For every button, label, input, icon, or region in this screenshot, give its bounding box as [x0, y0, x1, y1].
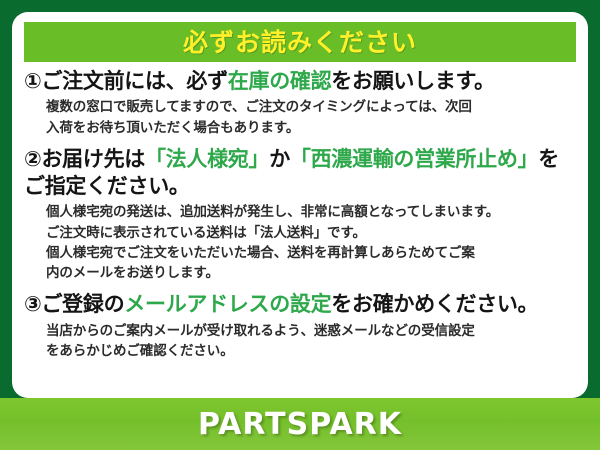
notice-item-heading: ③ご登録のメールアドレスの設定をお確かめください。 — [24, 291, 578, 318]
notice-plain-text: お届け先は — [41, 147, 145, 171]
notice-item-heading: ②お届け先は「法人様宛」か「西濃運輸の営業所止め」をご指定ください。 — [24, 146, 578, 201]
notice-plain-text: をお確かめください。 — [331, 292, 538, 316]
notice-item-body: 当店からのご案内メールが受け取れるよう、迷惑メールなどの受信設定をあらかじめご確… — [46, 321, 578, 362]
notice-item: ②お届け先は「法人様宛」か「西濃運輸の営業所止め」をご指定ください。個人様宅宛の… — [24, 146, 578, 284]
header-banner: 必ずお読みください — [24, 22, 576, 62]
notice-panel: 必ずお読みください ①ご注文前には、必ず在庫の確認をお願いします。複数の窓口で販… — [12, 12, 588, 398]
notice-body-line: 複数の窓口で販売してますので、ご注文のタイミングによっては、次回 — [46, 97, 578, 117]
notice-item-body: 個人様宅宛の発送は、追加送料が発生し、非常に高額となってしまいます。ご注文時に表… — [46, 202, 578, 283]
notice-item-body: 複数の窓口で販売してますので、ご注文のタイミングによっては、次回入荷をお待ち頂い… — [46, 97, 578, 138]
notice-item: ①ご注文前には、必ず在庫の確認をお願いします。複数の窓口で販売してますので、ご注… — [24, 68, 578, 138]
page-title: 必ずお読みください — [183, 30, 417, 55]
notice-plain-text: か — [269, 147, 290, 171]
notice-body-line: をあらかじめご確認ください。 — [46, 341, 578, 361]
notice-item-marker: ② — [24, 147, 41, 171]
notice-body-line: 入荷をお待ち頂いただく場合もあります。 — [46, 118, 578, 138]
notice-body-line: 個人様宅宛でご注文をいただいた場合、送料を再計算しあらためてご案 — [46, 243, 578, 263]
notice-plain-text: ご登録の — [41, 292, 124, 316]
notice-item-marker: ③ — [24, 292, 41, 316]
notice-body-line: ご注文時に表示されている送料は「法人送料」です。 — [46, 223, 578, 243]
notice-item-heading: ①ご注文前には、必ず在庫の確認をお願いします。 — [24, 68, 578, 95]
notice-plain-text: をお願いします。 — [331, 69, 495, 93]
notice-card: 必ずお読みください ①ご注文前には、必ず在庫の確認をお願いします。複数の窓口で販… — [0, 0, 600, 450]
notice-body-line: 当店からのご案内メールが受け取れるよう、迷惑メールなどの受信設定 — [46, 321, 578, 341]
brand-logo-text: PARTSPARK — [198, 407, 402, 442]
notice-item-list: ①ご注文前には、必ず在庫の確認をお願いします。複数の窓口で販売してますので、ご注… — [12, 68, 588, 369]
notice-highlight-text: 在庫の確認 — [228, 69, 332, 93]
notice-highlight-text: 「法人様宛」 — [145, 147, 269, 171]
notice-highlight-text: メールアドレスの設定 — [124, 292, 331, 316]
notice-item-marker: ① — [24, 69, 41, 93]
notice-item: ③ご登録のメールアドレスの設定をお確かめください。当店からのご案内メールが受け取… — [24, 291, 578, 361]
notice-plain-text: ご注文前には、必ず — [41, 69, 227, 93]
notice-body-line: 個人様宅宛の発送は、追加送料が発生し、非常に高額となってしまいます。 — [46, 202, 578, 222]
notice-highlight-text: 「西濃運輸の営業所止め」 — [290, 147, 538, 171]
footer-band: PARTSPARK — [0, 398, 600, 450]
notice-body-line: 内のメールをお送りします。 — [46, 263, 578, 283]
